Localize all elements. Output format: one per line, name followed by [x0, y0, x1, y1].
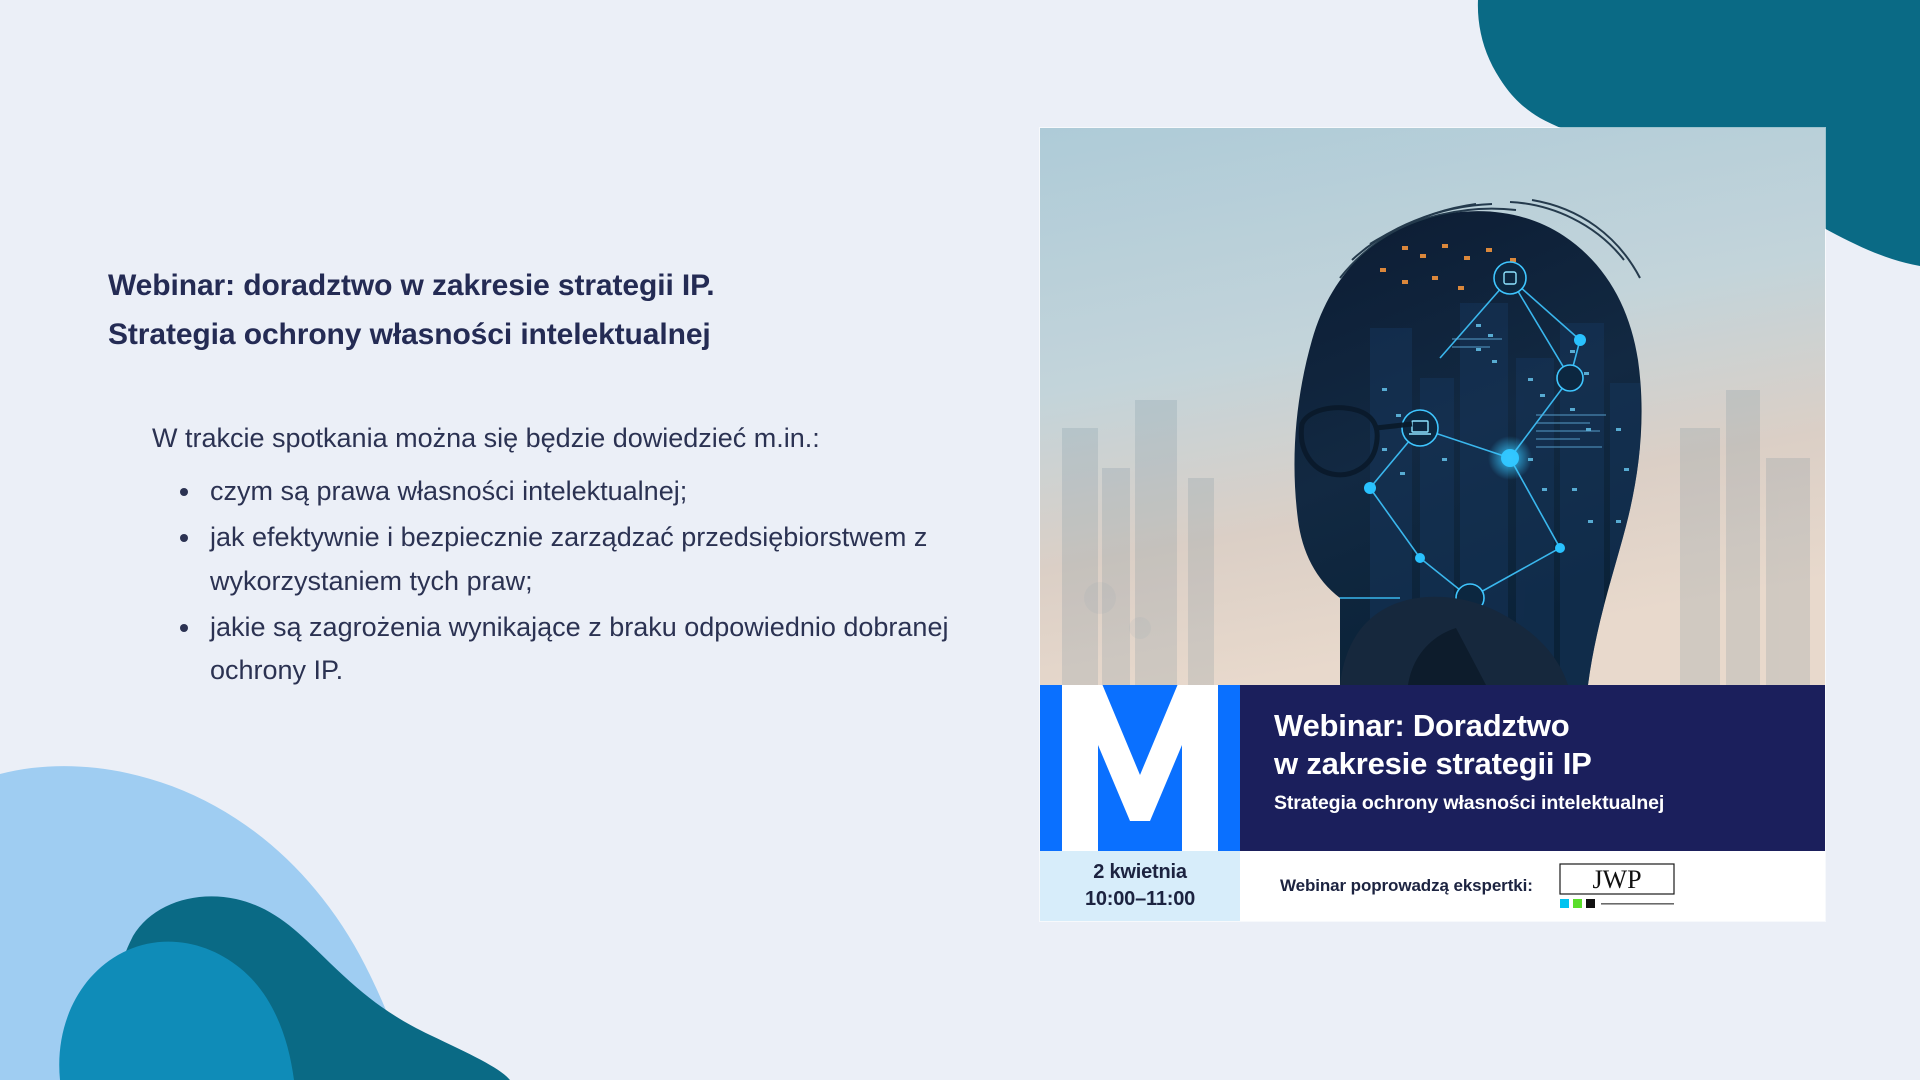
- page-title: Webinar: doradztwo w zakresie strategii …: [108, 262, 988, 359]
- bullet-icon: [180, 488, 188, 496]
- brand-mark-m: [1040, 685, 1240, 851]
- decor-blob-bottom-left-light: [0, 766, 408, 1080]
- promo-banner-text: Webinar: Doradztwo w zakresie strategii …: [1240, 685, 1825, 851]
- portrait-illustration: [1040, 128, 1825, 685]
- headline-line-2: Strategia ochrony własności intelektualn…: [108, 311, 988, 360]
- intro-paragraph: W trakcie spotkania można się będzie dow…: [108, 359, 988, 460]
- bullet-icon: [180, 534, 188, 542]
- promo-title-line-1: Webinar: Doradztwo: [1274, 707, 1799, 745]
- headline-line-1: Webinar: doradztwo w zakresie strategii …: [108, 262, 988, 311]
- jwp-logo-icon[interactable]: JWP: [1559, 863, 1689, 909]
- promo-subtitle: Strategia ochrony własności intelektualn…: [1274, 792, 1799, 815]
- event-date: 2 kwietnia: [1093, 859, 1187, 886]
- speakers-label: Webinar poprowadzą ekspertki:: [1280, 876, 1533, 896]
- decor-blob-bottom-left-teal: [108, 896, 510, 1080]
- promo-title: Webinar: Doradztwo w zakresie strategii …: [1274, 707, 1799, 783]
- webinar-promo-card[interactable]: Webinar: Doradztwo w zakresie strategii …: [1040, 128, 1825, 921]
- svg-text:JWP: JWP: [1592, 865, 1641, 894]
- list-item-label: czym są prawa własności intelektualnej;: [210, 476, 687, 506]
- list-item: czym są prawa własności intelektualnej;: [178, 470, 988, 514]
- promo-photo: [1040, 128, 1825, 685]
- speakers-block: Webinar poprowadzą ekspertki: JWP: [1240, 851, 1825, 921]
- event-datetime: 2 kwietnia 10:00–11:00: [1040, 851, 1240, 921]
- text-column: Webinar: doradztwo w zakresie strategii …: [108, 262, 988, 695]
- topics-list: czym są prawa własności intelektualnej; …: [108, 460, 988, 693]
- bullet-icon: [180, 624, 188, 632]
- promo-footer: 2 kwietnia 10:00–11:00 Webinar poprowadz…: [1040, 851, 1825, 921]
- promo-title-line-2: w zakresie strategii IP: [1274, 745, 1799, 783]
- event-time: 10:00–11:00: [1085, 886, 1195, 913]
- promo-banner: Webinar: Doradztwo w zakresie strategii …: [1040, 685, 1825, 851]
- list-item: jakie są zagrożenia wynikające z braku o…: [178, 606, 988, 693]
- decor-blob-bottom-left-blue: [59, 942, 294, 1080]
- list-item-label: jakie są zagrożenia wynikające z braku o…: [210, 612, 948, 686]
- list-item: jak efektywnie i bezpiecznie zarządzać p…: [178, 516, 988, 603]
- letter-m-icon: [1040, 685, 1240, 851]
- list-item-label: jak efektywnie i bezpiecznie zarządzać p…: [210, 522, 927, 596]
